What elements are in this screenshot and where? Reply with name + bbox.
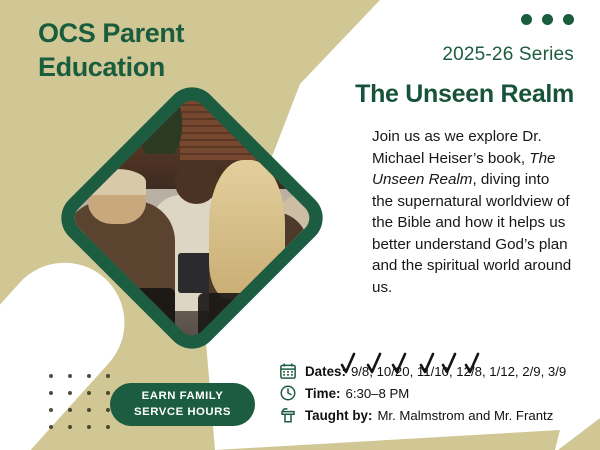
detail-value-time: 6:30–8 PM	[345, 386, 409, 401]
detail-value-dates: 9/8, 10/20, 11/10, 12/8, 1/12, 2/9, 3/9	[351, 364, 566, 379]
dot-icon	[563, 14, 574, 25]
dot-icon	[521, 14, 532, 25]
description-part-1: Join us as we explore Dr. Michael Heiser…	[372, 128, 542, 167]
detail-label-dates: Dates:	[305, 364, 346, 379]
three-dots-decoration	[521, 14, 574, 25]
detail-label-time: Time:	[305, 386, 340, 401]
series-label: 2025-26 Series	[442, 44, 574, 66]
detail-value-instructors: Mr. Malmstrom and Mr. Frantz	[377, 408, 553, 423]
dot-grid-decoration	[49, 374, 125, 442]
detail-row-dates: Dates: 9/8, 10/20, 11/10, 12/8, 1/12, 2/…	[279, 361, 566, 381]
badge-line-2: SERVCE HOURS	[134, 405, 231, 420]
details-list: Dates: 9/8, 10/20, 11/10, 12/8, 1/12, 2/…	[279, 361, 566, 427]
badge-line-1: EARN FAMILY	[142, 389, 224, 404]
description-text: Join us as we explore Dr. Michael Heiser…	[372, 126, 572, 299]
calendar-icon	[279, 362, 297, 380]
clock-icon	[279, 384, 297, 402]
detail-label-instructors: Taught by:	[305, 408, 372, 423]
series-title: The Unseen Realm	[355, 80, 574, 109]
dot-icon	[542, 14, 553, 25]
description-part-2: , diving into the supernatural worldview…	[372, 171, 571, 296]
podium-icon	[279, 406, 297, 424]
flyer-canvas: OCS Parent Education	[0, 0, 600, 450]
detail-row-instructors: Taught by: Mr. Malmstrom and Mr. Frantz	[279, 405, 566, 425]
page-title: OCS Parent Education	[38, 16, 288, 84]
detail-row-time: Time: 6:30–8 PM	[279, 383, 566, 403]
earn-hours-badge[interactable]: EARN FAMILY SERVCE HOURS	[110, 383, 255, 426]
